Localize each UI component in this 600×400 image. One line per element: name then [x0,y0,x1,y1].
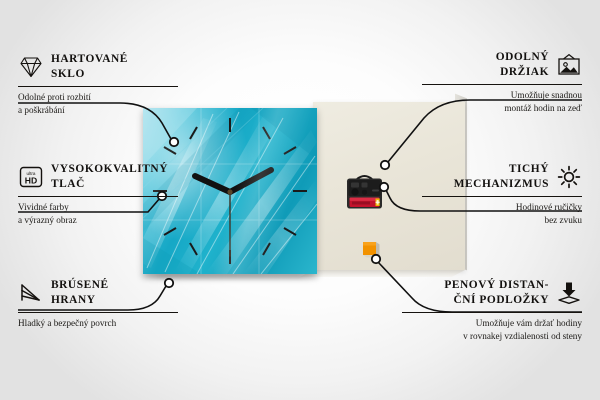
divider [18,312,178,313]
feature-header: TICHÝ MECHANIZMUS [422,162,582,192]
foam-spacer-pad [363,242,380,259]
feature-hd-print: ultra HD VYSOKOKVALITNÝ TLAČ Vividné far… [18,162,178,226]
desc-line-1: Umožňuje vám držať hodiny [402,317,582,330]
desc-line-2: a poškrábání [18,104,178,117]
title-line-2: TLAČ [51,177,168,192]
infographic-stage: HARTOVANÉ SKLO Odolné proti rozbití a po… [0,0,600,400]
feature-title: VYSOKOKVALITNÝ TLAČ [51,162,168,192]
feature-header: ultra HD VYSOKOKVALITNÝ TLAČ [18,162,178,192]
title-line-2: SKLO [51,67,128,82]
feature-wall-hanger: ODOLNÝ DRŽIAK Umožňuje snadnou montáž ho… [422,50,582,114]
desc-line-1: Umožňuje snadnou [422,89,582,102]
wall-hanger-icon [556,52,582,78]
feature-header: ODOLNÝ DRŽIAK [422,50,582,80]
feature-title: BRÚSENÉ HRANY [51,278,109,308]
feature-silent-mechanism: TICHÝ MECHANIZMUS Hodinové ručičky bez z… [422,162,582,226]
feature-description: Umožňuje vám držať hodiny v rovnakej vzd… [402,317,582,342]
title-line-1: TICHÝ [454,162,549,177]
desc-line-1: Odolné proti rozbití [18,91,178,104]
foam-pad-icon [556,280,582,306]
feature-hardened-glass: HARTOVANÉ SKLO Odolné proti rozbití a po… [18,52,178,116]
feature-header: PENOVÝ DISTAN- ČNÍ PODLOŽKY [402,278,582,308]
svg-text:HD: HD [25,175,37,185]
desc-line-2: a výrazný obraz [18,214,178,227]
desc-line-2: bez zvuku [422,214,582,227]
feature-description: Odolné proti rozbití a poškrábání [18,91,178,116]
feature-header: HARTOVANÉ SKLO [18,52,178,82]
feature-foam-pads: PENOVÝ DISTAN- ČNÍ PODLOŽKY Umožňuje vám… [402,278,582,342]
feature-title: HARTOVANÉ SKLO [51,52,128,82]
desc-line-2: montáž hodin na zeď [422,102,582,115]
feature-description: Hladký a bezpečný povrch [18,317,178,330]
desc-line-2: v rovnakej vzdialenosti od steny [402,330,582,343]
divider [18,86,178,87]
title-line-2: DRŽIAK [496,65,549,80]
feature-description: Hodinové ručičky bez zvuku [422,201,582,226]
desc-line-1: Hodinové ručičky [422,201,582,214]
desc-line-1: Vividné farby [18,201,178,214]
divider [422,196,582,197]
diamond-icon [18,54,44,80]
title-line-2: HRANY [51,293,109,308]
title-line-1: VYSOKOKVALITNÝ [51,162,168,177]
ground-edges-icon [18,280,44,306]
gear-icon [556,164,582,190]
feature-title: PENOVÝ DISTAN- ČNÍ PODLOŽKY [444,278,549,308]
feature-ground-edges: BRÚSENÉ HRANY Hladký a bezpečný povrch [18,278,178,330]
divider [18,196,178,197]
title-line-1: PENOVÝ DISTAN- [444,278,549,293]
title-line-2: ČNÍ PODLOŽKY [444,293,549,308]
title-line-1: BRÚSENÉ [51,278,109,293]
feature-description: Vividné farby a výrazný obraz [18,201,178,226]
feature-title: ODOLNÝ DRŽIAK [496,50,549,80]
divider [402,312,582,313]
divider [422,84,582,85]
title-line-1: HARTOVANÉ [51,52,128,67]
feature-title: TICHÝ MECHANIZMUS [454,162,549,192]
clock-mechanism [344,172,385,212]
title-line-1: ODOLNÝ [496,50,549,65]
desc-line-1: Hladký a bezpečný povrch [18,317,178,330]
title-line-2: MECHANIZMUS [454,177,549,192]
feature-description: Umožňuje snadnou montáž hodin na zeď [422,89,582,114]
ultra-hd-icon: ultra HD [18,164,44,190]
feature-header: BRÚSENÉ HRANY [18,278,178,308]
